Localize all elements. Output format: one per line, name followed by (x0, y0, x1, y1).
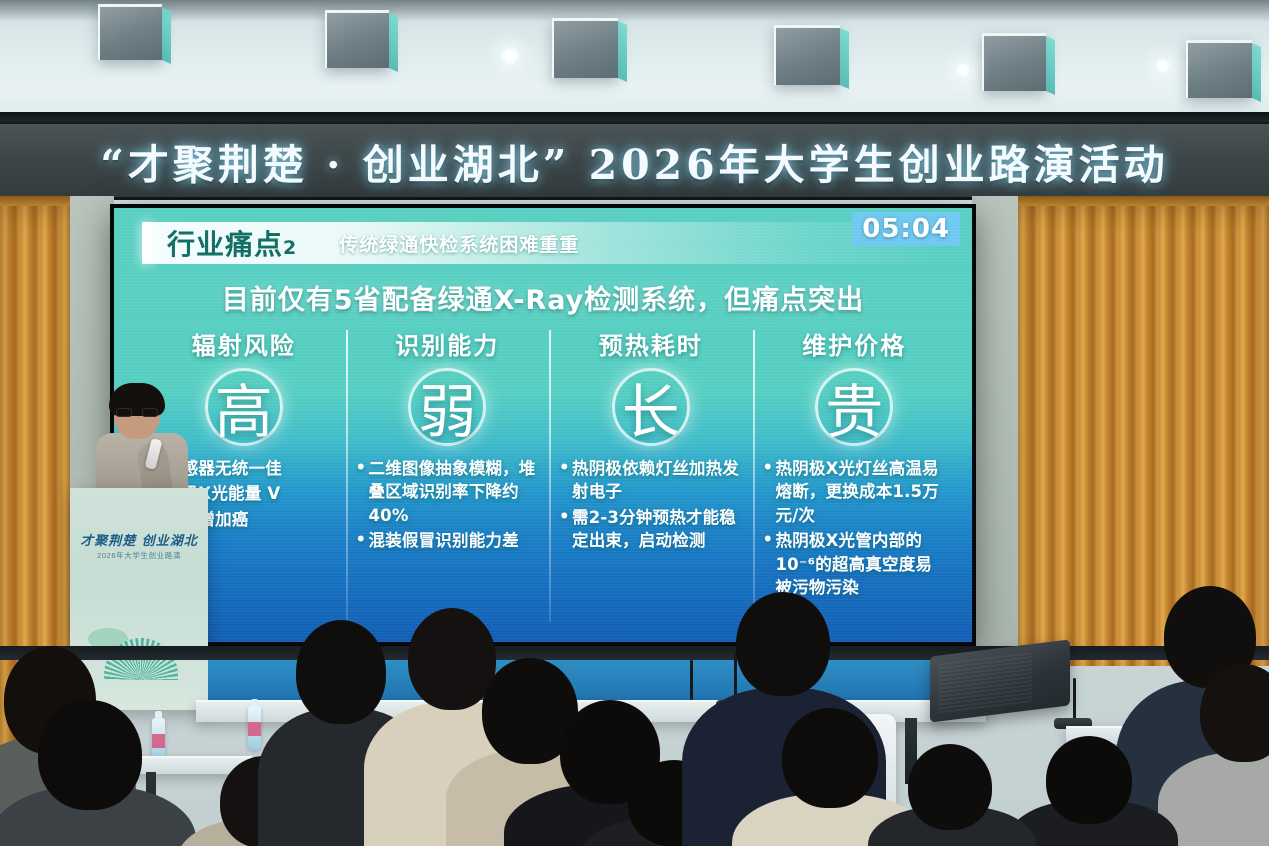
rating-value: 弱 (418, 365, 476, 449)
audience-member (886, 744, 1012, 846)
slide-statement: 目前仅有5省配备绿通X-Ray检测系统，但痛点突出 (114, 278, 972, 317)
ceiling-downlight (955, 62, 971, 78)
ceiling-beam (0, 112, 1269, 122)
rating-value: 高 (215, 365, 273, 449)
ceiling-vent (1186, 40, 1252, 98)
rating-value: 贵 (825, 365, 883, 449)
wall-panel-right (972, 196, 1020, 666)
ceiling-vent (774, 25, 840, 85)
column-title: 识别能力 (356, 326, 540, 361)
audience-member (1176, 664, 1269, 846)
slide-header-bar: 行业痛点2 传统绿通快检系统困难重重 (142, 222, 948, 264)
presenter (96, 383, 188, 503)
audience-head (1046, 736, 1132, 824)
column-title: 维护价格 (763, 326, 947, 361)
audience-head (38, 700, 142, 810)
column-title: 预热耗时 (559, 326, 743, 361)
section-title-text: 行业痛点 (167, 228, 283, 261)
presentation-timer: 05:04 (852, 212, 960, 246)
bullet-item: 需2-3分钟预热才能稳定出束，启动检测 (559, 506, 743, 553)
header-accent-tick (142, 222, 151, 264)
rating-ring-wrap: 弱 (356, 361, 540, 453)
slide-header-subtitle: 传统绿通快检系统困难重重 (339, 230, 579, 257)
curtain-rail (0, 196, 70, 206)
ceiling-vent (325, 10, 389, 68)
audience-member (16, 700, 166, 846)
bullet-item: 热阴极依赖灯丝加热发射电子 (559, 457, 743, 504)
presentation-slide: 行业痛点2 传统绿通快检系统困难重重 05:04 目前仅有5省配备绿通X-Ray… (114, 208, 972, 642)
ceiling-vent (552, 18, 618, 78)
stage-edge (0, 646, 1269, 660)
banner-title: “才聚荆楚 · 创业湖北” 2026年大学生创业路演活动 (100, 131, 1168, 191)
ceiling-downlight (500, 46, 520, 66)
audience-head (782, 708, 878, 808)
glasses-icon (116, 408, 158, 417)
microphone-stand (690, 660, 693, 700)
column-title: 辐射风险 (152, 326, 336, 361)
bullet-item: 热阴极X光灯丝高温易熔断，更换成本1.5万元/次 (763, 457, 947, 527)
conference-room-photo: “才聚荆楚 · 创业湖北” 2026年大学生创业路演活动 行业痛点2 传统绿通快… (0, 0, 1269, 846)
event-banner: “才聚荆楚 · 创业湖北” 2026年大学生创业路演活动 (0, 122, 1269, 200)
podium-title: 才聚荆楚 创业湖北 (70, 530, 208, 549)
ceiling-downlight (1155, 58, 1171, 74)
rating-ring-wrap: 贵 (763, 361, 947, 453)
audience-head (908, 744, 992, 830)
pain-point-column-recognition: 识别能力 弱 二维图像抽象模糊，堆叠区域识别率下降约40% 混装假冒识别能力差 (346, 326, 550, 642)
microphone-stand (1073, 678, 1076, 722)
slide-section-title: 行业痛点2 (167, 223, 297, 263)
bullet-item: 混装假冒识别能力差 (356, 529, 540, 552)
column-bullets: 二维图像抽象模糊，堆叠区域识别率下降约40% 混装假冒识别能力差 (356, 457, 540, 553)
ceiling-shadow (0, 0, 1269, 22)
audience-head (736, 592, 830, 696)
rating-value: 长 (622, 365, 680, 449)
podium-subtitle: 2026年大学生创业路演 (70, 550, 208, 561)
audience-head (296, 620, 386, 724)
water-bottle (248, 706, 261, 750)
column-bullets: 热阴极依赖灯丝加热发射电子 需2-3分钟预热才能稳定出束，启动检测 (559, 457, 743, 553)
bullet-item: 热阴极X光管内部的10⁻⁶的超高真空度易被污物污染 (763, 529, 947, 599)
bullet-item: 二维图像抽象模糊，堆叠区域识别率下降约40% (356, 457, 540, 527)
column-bullets: 热阴极X光灯丝高温易熔断，更换成本1.5万元/次 热阴极X光管内部的10⁻⁶的超… (763, 457, 947, 600)
audience-head (1200, 664, 1269, 762)
ceiling-vent (98, 4, 162, 60)
audience-member (1022, 736, 1152, 846)
ceiling-vent (982, 33, 1046, 91)
section-title-index: 2 (283, 237, 297, 259)
presentation-screen-frame: 行业痛点2 传统绿通快检系统困难重重 05:04 目前仅有5省配备绿通X-Ray… (110, 204, 976, 646)
curtain-rail (1018, 196, 1269, 206)
rating-ring-wrap: 长 (559, 361, 743, 453)
